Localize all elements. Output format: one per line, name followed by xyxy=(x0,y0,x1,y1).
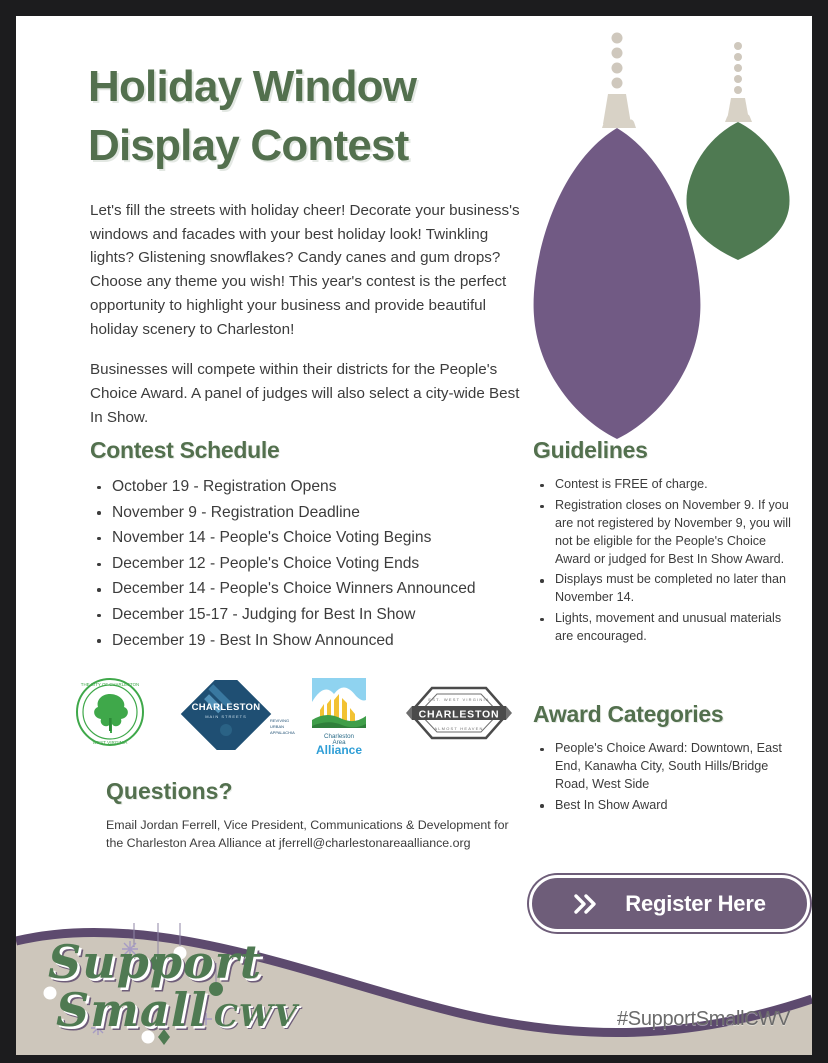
contest-schedule-list: October 19 - Registration Opens November… xyxy=(90,476,510,652)
list-item: Lights, movement and unusual materials a… xyxy=(533,610,801,646)
list-item: Best In Show Award xyxy=(533,797,801,815)
support-small-cwv-logo: Support Small CWV xyxy=(38,917,308,1047)
svg-text:URBAN: URBAN xyxy=(270,724,284,729)
svg-text:Alliance: Alliance xyxy=(316,743,362,756)
charleston-cvb-badge-logo: CHARLESTON EST. WEST VIRGINIA ALMOST HEA… xyxy=(404,682,514,749)
page-title-line1: Holiday Window xyxy=(88,62,416,111)
svg-text:THE CITY OF CHARLESTON: THE CITY OF CHARLESTON xyxy=(81,682,139,687)
questions-body: Email Jordan Ferrell, Vice President, Co… xyxy=(106,817,526,853)
support-small-logo-line1: Support xyxy=(48,935,262,989)
page-title: Holiday Window Display Contest xyxy=(88,58,528,175)
award-categories-heading: Award Categories xyxy=(533,701,801,728)
svg-text:ALMOST HEAVEN: ALMOST HEAVEN xyxy=(434,726,483,731)
intro-paragraph-1: Let's fill the streets with holiday chee… xyxy=(90,199,522,341)
support-small-logo-line3: CWV xyxy=(214,999,298,1034)
svg-text:EST. WEST VIRGINIA: EST. WEST VIRGINIA xyxy=(428,697,489,702)
questions-heading: Questions? xyxy=(106,778,526,805)
list-item: People's Choice Award: Downtown, East En… xyxy=(533,740,801,794)
svg-text:CHARLESTON: CHARLESTON xyxy=(192,702,261,713)
list-item: November 9 - Registration Deadline xyxy=(90,502,510,525)
guidelines-list: Contest is FREE of charge. Registration … xyxy=(533,476,801,646)
page-title-line2: Display Contest xyxy=(88,121,409,170)
green-ornament xyxy=(686,42,789,260)
award-categories-list: People's Choice Award: Downtown, East En… xyxy=(533,740,801,815)
intro-paragraph-2: Businesses will compete within their dis… xyxy=(90,358,522,429)
list-item: Registration closes on November 9. If yo… xyxy=(533,497,801,569)
svg-text:WEST VIRGINIA: WEST VIRGINIA xyxy=(93,740,129,745)
city-of-charleston-seal-logo: THE CITY OF CHARLESTON WEST VIRGINIA xyxy=(74,674,146,755)
guidelines-heading: Guidelines xyxy=(533,437,801,464)
svg-text:REVIVING: REVIVING xyxy=(270,718,289,723)
partner-logos-row: THE CITY OF CHARLESTON WEST VIRGINIA CHA… xyxy=(74,674,524,758)
list-item: December 14 - People's Choice Winners An… xyxy=(90,578,510,601)
charleston-main-streets-logo: CHARLESTON MAIN STREETS REVIVING URBAN A… xyxy=(178,680,300,755)
purple-ornament xyxy=(534,33,701,440)
support-small-logo-line2: Small xyxy=(56,983,208,1037)
flyer-page: Holiday Window Display Contest Let's fil… xyxy=(16,16,812,1055)
list-item: December 15-17 - Judging for Best In Sho… xyxy=(90,604,510,627)
svg-text:MAIN STREETS: MAIN STREETS xyxy=(205,714,247,719)
svg-text:CHARLESTON: CHARLESTON xyxy=(419,709,500,721)
contest-schedule-section: Contest Schedule October 19 - Registrati… xyxy=(90,437,510,655)
list-item: November 14 - People's Choice Voting Beg… xyxy=(90,527,510,550)
questions-section: Questions? Email Jordan Ferrell, Vice Pr… xyxy=(106,778,526,853)
contest-schedule-heading: Contest Schedule xyxy=(90,437,510,464)
list-item: Displays must be completed no later than… xyxy=(533,571,801,607)
charleston-area-alliance-logo: Charleston Area Alliance xyxy=(310,676,368,761)
intro-text: Let's fill the streets with holiday chee… xyxy=(90,199,522,429)
hashtag-text: #SupportSmallCWV xyxy=(617,1008,790,1031)
list-item: December 12 - People's Choice Voting End… xyxy=(90,553,510,576)
guidelines-section: Guidelines Contest is FREE of charge. Re… xyxy=(533,437,801,649)
list-item: October 19 - Registration Opens xyxy=(90,476,510,499)
list-item: Contest is FREE of charge. xyxy=(533,476,801,494)
footer-banner: Support Small CWV #SupportSmallCWV xyxy=(16,907,812,1055)
award-categories-section: Award Categories People's Choice Award: … xyxy=(533,701,801,818)
list-item: December 19 - Best In Show Announced xyxy=(90,630,510,653)
svg-text:APPALACHIA: APPALACHIA xyxy=(270,730,295,735)
